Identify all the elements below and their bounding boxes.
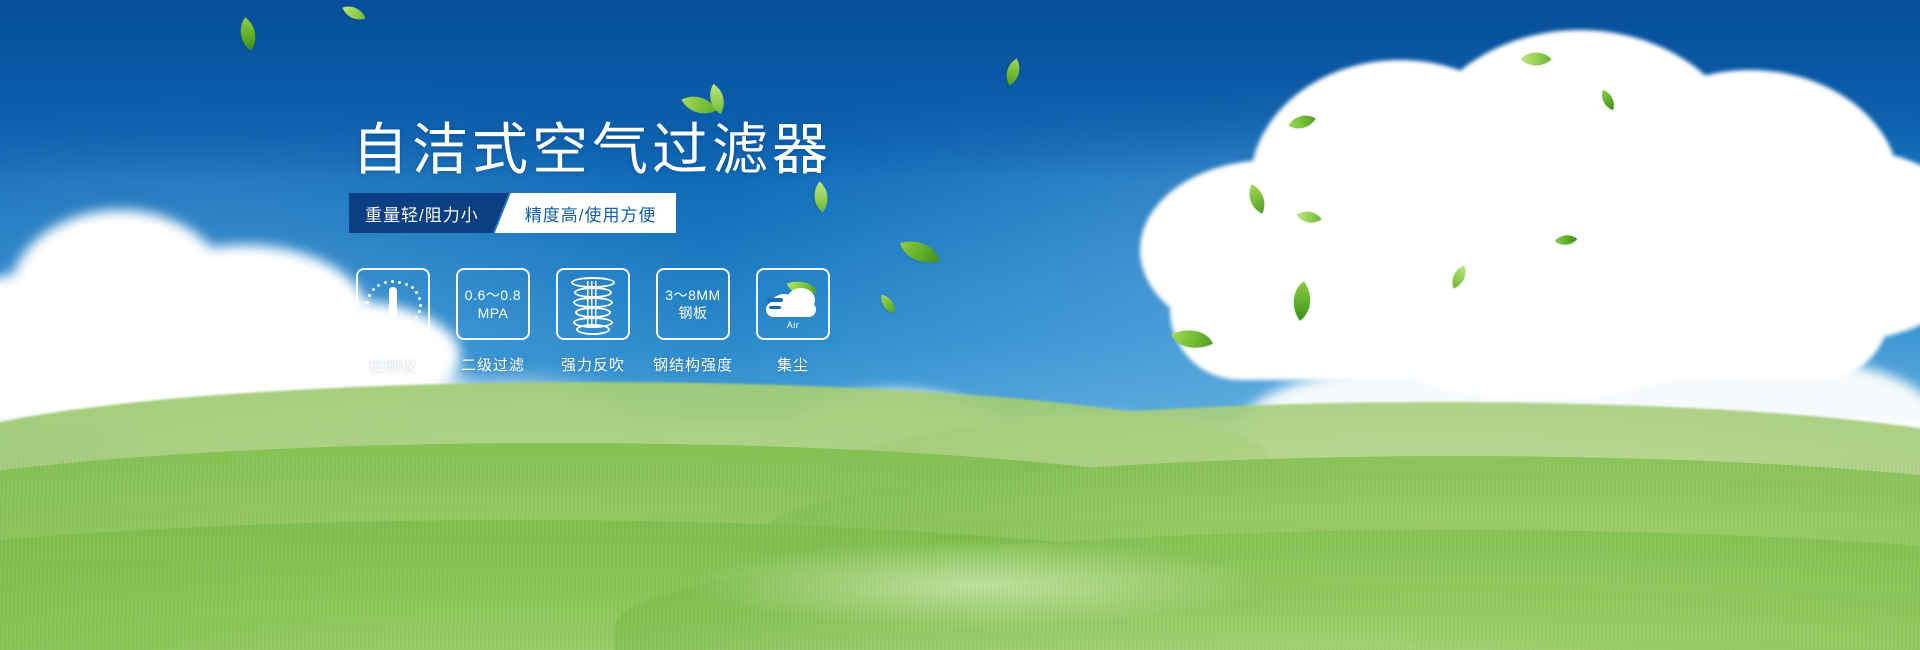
tag-row: 重量轻/阻力小 精度高/使用方便	[349, 193, 676, 233]
feature-row: NO OFF 控制仪 0.6～0.8 MPA 二级过滤	[356, 268, 830, 375]
feature-icon-box: 0.6～0.8 MPA	[456, 268, 530, 340]
feature-caption: 二级过滤	[461, 354, 525, 375]
feature-caption: 集尘	[777, 354, 809, 375]
banner-content: 自洁式空气过滤器 重量轻/阻力小 精度高/使用方便	[0, 0, 1920, 650]
pressure-text-icon: 0.6～0.8 MPA	[465, 286, 521, 322]
feature-steel-structure-strength[interactable]: 3～8MM 钢板 钢结构强度	[656, 268, 730, 375]
hero-banner: 自洁式空气过滤器 重量轻/阻力小 精度高/使用方便	[0, 0, 1920, 650]
feature-caption: 强力反吹	[561, 354, 625, 375]
tag-lightweight-lowresistance[interactable]: 重量轻/阻力小	[349, 193, 509, 233]
air-label: Air	[765, 320, 821, 330]
feature-dust-collection[interactable]: Air 集尘	[756, 268, 830, 375]
tag-precision-easyuse[interactable]: 精度高/使用方便	[495, 193, 677, 233]
page-title: 自洁式空气过滤器	[352, 118, 832, 182]
gauge-needle	[389, 287, 397, 321]
gauge-label-no: NO	[363, 301, 371, 307]
steel-text-icon: 3～8MM 钢板	[665, 286, 720, 322]
feature-icon-box: NO OFF	[356, 268, 430, 340]
feature-caption: 控制仪	[369, 354, 417, 375]
feature-icon-box: 3～8MM 钢板	[656, 268, 730, 340]
gauge-label-off: OFF	[411, 323, 422, 329]
cloud-air-icon: Air	[765, 280, 821, 328]
feature-caption: 钢结构强度	[653, 354, 733, 375]
coil-icon	[571, 277, 615, 331]
feature-icon-box	[556, 268, 630, 340]
feature-strong-backblow[interactable]: 强力反吹	[556, 268, 630, 375]
feature-two-stage-filtration[interactable]: 0.6～0.8 MPA 二级过滤	[456, 268, 530, 375]
feature-control-instrument[interactable]: NO OFF 控制仪	[356, 268, 430, 375]
gauge-icon: NO OFF	[364, 278, 422, 330]
feature-icon-box: Air	[756, 268, 830, 340]
